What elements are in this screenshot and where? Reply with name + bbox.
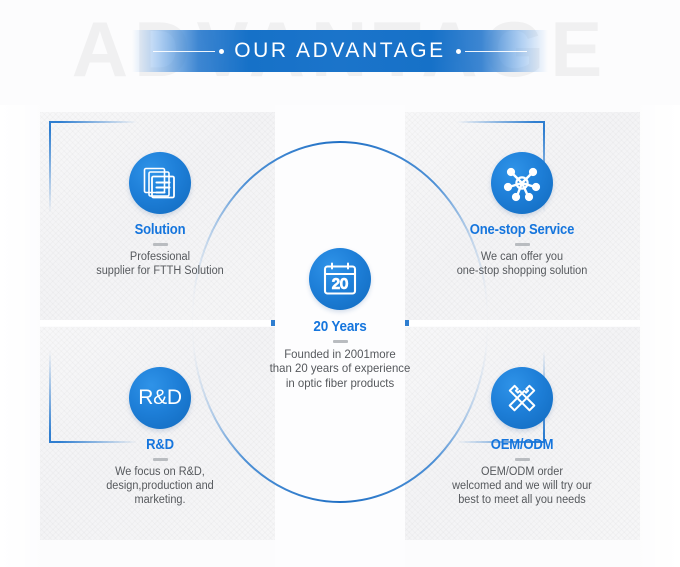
header-right-line	[465, 51, 527, 52]
advantage-description: We focus on R&D, design,production and m…	[75, 465, 246, 507]
advantage-item-oem-odm: OEM/ODM OEM/ODM order welcomed and we wi…	[432, 367, 612, 507]
advantage-item-research-and-development: R&D R&D We focus on R&D, design,producti…	[70, 367, 250, 507]
panels-section: Solution Professional supplier for FTTH …	[0, 105, 680, 567]
advantage-item-one-stop-service: One-stop Service We can offer you one-st…	[432, 152, 612, 278]
header-left-dot-icon	[219, 49, 224, 54]
title-divider	[515, 458, 530, 461]
desc-line: Founded in 2001more	[250, 347, 431, 362]
page-title: OUR ADVANTAGE	[228, 39, 452, 63]
header-banner: OUR ADVANTAGE	[132, 30, 548, 72]
advantage-title: Solution	[79, 222, 241, 238]
advantage-title: One-stop Service	[441, 222, 603, 238]
desc-line: best to meet all you needs	[437, 493, 608, 507]
pencil-ruler-icon	[491, 367, 553, 429]
desc-line: one-stop shopping solution	[437, 264, 608, 278]
advantage-title: OEM/ODM	[441, 437, 603, 453]
desc-line: Professional	[75, 250, 246, 264]
desc-line: in optic fiber products	[250, 376, 431, 391]
badge-label: R&D	[138, 386, 181, 410]
desc-line: supplier for FTTH Solution	[75, 264, 246, 278]
advantage-title: 20 Years	[255, 318, 426, 335]
title-divider	[153, 243, 168, 246]
title-divider	[333, 340, 348, 343]
desc-line: We focus on R&D,	[75, 465, 246, 479]
infographic-canvas: ADVANTAGE OUR ADVANTAGE	[0, 0, 680, 567]
desc-line: welcomed and we will try our	[437, 479, 608, 493]
desc-line: We can offer you	[437, 250, 608, 264]
title-divider	[515, 243, 530, 246]
desc-line: design,production and	[75, 479, 246, 493]
advantage-item-solution: Solution Professional supplier for FTTH …	[70, 152, 250, 278]
title-divider	[153, 458, 168, 461]
documents-icon	[129, 152, 191, 214]
advantage-description: We can offer you one-stop shopping solut…	[437, 250, 608, 278]
header-right-dot-icon	[456, 49, 461, 54]
desc-line: marketing.	[75, 493, 246, 507]
calendar-icon: 20	[309, 248, 371, 310]
desc-line: OEM/ODM order	[437, 465, 608, 479]
network-hub-icon	[491, 152, 553, 214]
rnd-text-icon: R&D	[129, 367, 191, 429]
calendar-day-number: 20	[332, 277, 348, 293]
advantage-description: Founded in 2001more than 20 years of exp…	[250, 347, 431, 391]
left-edge-fade	[0, 105, 40, 567]
header-left-line	[153, 51, 215, 52]
header-section: ADVANTAGE OUR ADVANTAGE	[0, 0, 680, 105]
desc-line: than 20 years of experience	[250, 361, 431, 376]
advantage-title: R&D	[79, 437, 241, 453]
advantage-description: Professional supplier for FTTH Solution	[75, 250, 246, 278]
right-edge-fade	[640, 105, 680, 567]
advantage-item-twenty-years: 20 20 Years Founded in 2001more than 20 …	[245, 248, 435, 390]
advantage-description: OEM/ODM order welcomed and we will try o…	[437, 465, 608, 507]
